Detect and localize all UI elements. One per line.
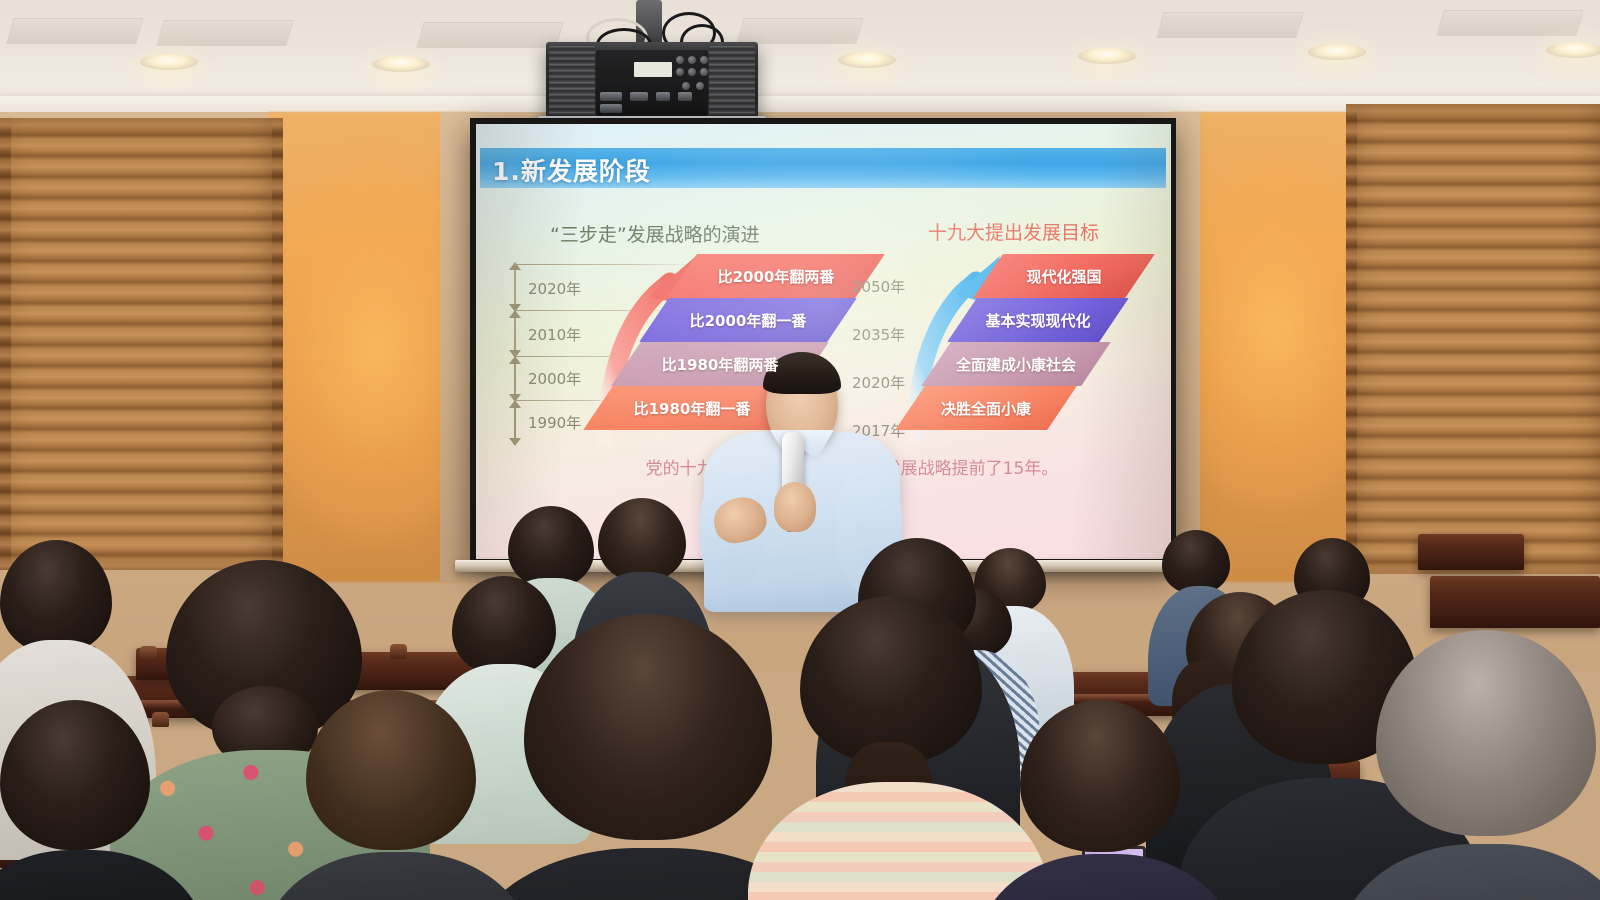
ceiling-downlight <box>140 54 198 70</box>
right-step: 全面建成小康社会 <box>936 342 1096 386</box>
step-label: 比1980年翻两番 <box>662 354 779 375</box>
projector-button[interactable] <box>676 56 684 64</box>
left-chart-axis: 2020年 2010年 2000年 1990年 <box>498 264 598 444</box>
ceiling-vent <box>416 22 563 48</box>
middle-year-label: 2035年 <box>852 324 905 345</box>
middle-year-label: 2050年 <box>852 276 905 297</box>
left-chart-heading: “三步走”发展战略的演进 <box>550 220 760 247</box>
head <box>1020 700 1180 852</box>
step-label: 比2000年翻两番 <box>718 266 835 287</box>
ceiling-downlight <box>838 52 896 68</box>
step-label: 基本实现现代化 <box>985 310 1090 331</box>
projector-port <box>630 92 648 101</box>
projector-port <box>678 92 692 101</box>
axis-gridline <box>514 264 686 265</box>
step-label: 全面建成小康社会 <box>956 354 1076 375</box>
pew-back <box>1418 534 1524 570</box>
pew-knob <box>152 712 169 727</box>
projector-port <box>656 92 670 101</box>
step-label: 比1980年翻一番 <box>634 398 751 419</box>
axis-year-label: 2000年 <box>528 368 581 389</box>
ceiling-downlight <box>1308 44 1366 60</box>
right-step: 基本实现现代化 <box>962 298 1114 342</box>
slat-edge <box>0 118 11 570</box>
ceiling-vent <box>1156 12 1303 38</box>
axis-year-label: 2010年 <box>528 324 581 345</box>
lecture-hall-scene: 1.新发展阶段 “三步走”发展战略的演进 十九大提出发展目标 <box>0 0 1600 900</box>
projector-button[interactable] <box>688 68 696 76</box>
projector-button[interactable] <box>696 82 704 90</box>
projector-body <box>546 42 758 124</box>
ceiling-downlight <box>372 56 430 72</box>
projector-button[interactable] <box>700 68 708 76</box>
axis-gridline <box>514 356 642 357</box>
pew-knob <box>390 644 407 659</box>
wood-slat-panel-right <box>1352 104 1600 574</box>
ceiling-downlight <box>1546 42 1600 58</box>
axis-arrow-up <box>509 400 521 408</box>
right-chart-heading: 十九大提出发展目标 <box>928 218 1099 245</box>
left-step: 比2000年翻两番 <box>682 254 870 298</box>
projector-label <box>634 62 672 77</box>
slat-edge <box>1346 104 1357 574</box>
projector-port <box>600 92 622 101</box>
slide-title: 1.新发展阶段 <box>492 152 651 188</box>
head <box>452 576 556 676</box>
ceiling-vent <box>1436 10 1583 36</box>
slat-edge <box>272 118 283 570</box>
axis-arrow-up <box>509 310 521 318</box>
ceiling-vent <box>6 18 143 44</box>
wood-slat-panel-left <box>0 118 272 570</box>
projector-vent-fin <box>549 46 595 120</box>
presenter-hand <box>774 482 816 532</box>
right-step: 现代化强国 <box>988 254 1140 298</box>
left-step: 比1980年翻一番 <box>598 386 786 430</box>
ceiling-vent <box>736 18 863 44</box>
step-label: 决胜全面小康 <box>941 398 1031 419</box>
ceiling-downlight <box>1078 48 1136 64</box>
projector-vent-fin <box>709 46 755 120</box>
ceiling-vent <box>156 20 293 46</box>
head <box>508 506 594 588</box>
middle-year-label: 2020年 <box>852 372 905 393</box>
projector-port <box>600 104 622 113</box>
pew-back <box>1430 576 1600 628</box>
left-step: 比2000年翻一番 <box>654 298 842 342</box>
step-label: 现代化强国 <box>1026 266 1101 287</box>
head <box>1162 530 1230 594</box>
projector-button[interactable] <box>676 68 684 76</box>
axis-gridline <box>514 310 666 311</box>
axis-year-label: 2020年 <box>528 278 581 299</box>
projector-button[interactable] <box>688 56 696 64</box>
axis-arrow-up <box>509 356 521 364</box>
projector-button[interactable] <box>700 56 708 64</box>
pew-knob <box>140 646 157 661</box>
axis-year-label: 1990年 <box>528 412 581 433</box>
step-label: 比2000年翻一番 <box>690 310 807 331</box>
axis-arrow-down <box>509 438 521 446</box>
head <box>598 498 686 582</box>
projector-button[interactable] <box>682 82 690 90</box>
right-step: 决胜全面小康 <box>910 386 1062 430</box>
